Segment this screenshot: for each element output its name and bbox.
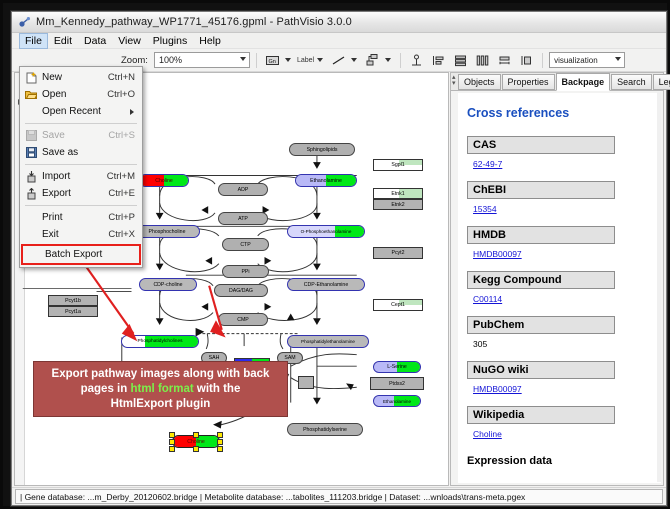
node-label: Etnk1 <box>391 191 404 197</box>
toolbar-separator-3 <box>542 53 543 68</box>
menu-item-open[interactable]: Open Ctrl+O <box>20 86 142 103</box>
node-label: Pcyt2 <box>392 250 405 256</box>
node-label: L-Serine <box>387 364 407 370</box>
xref-value-kegg[interactable]: C00114 <box>473 294 502 304</box>
node-choline-top[interactable]: Choline <box>139 174 189 187</box>
zoom-value: 100% <box>159 55 182 65</box>
pathvisio-app-icon <box>18 16 31 29</box>
line-tool-icon[interactable] <box>329 51 348 70</box>
xref-header-nugo: NuGO wiki <box>467 361 615 379</box>
menu-edit[interactable]: Edit <box>48 34 78 48</box>
menu-item-batch-export[interactable]: Batch Export <box>23 246 139 263</box>
node-label: Pcyt1a <box>65 309 81 315</box>
gene-product-dropdown-icon[interactable] <box>285 58 291 62</box>
node-label: ADP <box>238 187 249 193</box>
chevron-down-icon <box>240 57 246 61</box>
export-icon <box>20 188 42 200</box>
tab-legend[interactable]: Legend <box>653 74 670 90</box>
node-label: Choline <box>155 178 173 184</box>
align-center-tool-icon[interactable] <box>407 51 426 70</box>
node-label: DAG/DAG <box>229 288 253 294</box>
menu-separator-2 <box>25 164 137 165</box>
tab-scroll-icon[interactable]: ▴▾ <box>452 75 456 87</box>
outer-shell: Mm_Kennedy_pathway_WP1771_45176.gpml - P… <box>3 3 667 506</box>
menu-separator-3 <box>25 205 137 206</box>
node-label: O-Phosphoethanolamine <box>301 229 352 234</box>
node-cept1[interactable]: Cept1 <box>373 299 423 311</box>
menu-item-accel: Ctrl+X <box>108 229 135 240</box>
node-pcyt2[interactable]: Pcyt2 <box>373 247 423 259</box>
menu-item-label: Save as <box>42 147 135 158</box>
align-left-tool-icon[interactable] <box>429 51 448 70</box>
chevron-down-icon-2 <box>615 57 621 61</box>
zoom-combo[interactable]: 100% <box>154 52 250 68</box>
callout-line2-post: with the <box>194 383 241 395</box>
sidebar-scrollbar[interactable] <box>657 92 661 482</box>
node-cdp-ethanolamine[interactable]: CDP-Ethanolamine <box>287 278 365 291</box>
line-dropdown-icon[interactable] <box>351 58 357 62</box>
node-phosphocholine[interactable]: Phosphocholine <box>134 225 200 238</box>
interaction-tool-icon[interactable] <box>363 51 382 70</box>
backpage-content: Cross references CAS 62-49-7 ChEBI 15354… <box>458 93 661 483</box>
screenshot-root: Mm_Kennedy_pathway_WP1771_45176.gpml - P… <box>0 0 670 509</box>
menu-help[interactable]: Help <box>193 34 227 48</box>
node-cmp[interactable]: CMP <box>218 313 268 326</box>
node-phosphatidylethanolamine[interactable]: Phosphatidylethanolamine <box>287 335 369 348</box>
interaction-dropdown-icon[interactable] <box>385 58 391 62</box>
node-ethanolamine-top[interactable]: Ethanolamine <box>295 174 357 187</box>
node-pcyt1b[interactable]: Pcyt1b <box>48 295 98 306</box>
save-as-icon <box>20 147 42 158</box>
xref-value-nugo[interactable]: HMDB00097 <box>473 384 522 394</box>
node-label: Choline <box>187 439 205 445</box>
menu-separator-1 <box>25 123 137 124</box>
menu-bar[interactable]: File Edit Data View Plugins Help <box>12 33 666 49</box>
menu-data[interactable]: Data <box>78 34 112 48</box>
xref-value-wikipedia[interactable]: Choline <box>473 429 502 439</box>
node-label: Pcyt1b <box>65 298 81 304</box>
node-pcyt1a[interactable]: Pcyt1a <box>48 306 98 317</box>
menu-item-label: Open Recent <box>42 106 130 117</box>
sidebar-tabstrip[interactable]: ▴▾ Objects Properties Backpage Search Le… <box>451 73 663 91</box>
tab-properties[interactable]: Properties <box>502 74 555 90</box>
menu-item-new[interactable]: New Ctrl+N <box>20 69 142 86</box>
xref-value-hmdb[interactable]: HMDB00097 <box>473 249 522 259</box>
tab-backpage[interactable]: Backpage <box>556 73 611 91</box>
status-bar: | Gene database: ...m_Derby_20120602.bri… <box>12 487 666 505</box>
xref-value-pubchem: 305 <box>473 339 487 349</box>
node-atp[interactable]: ATP <box>218 212 268 225</box>
file-menu-popup[interactable]: New Ctrl+N Open Ctrl+O Open Recent <box>19 66 143 268</box>
batch-export-highlight: Batch Export <box>21 244 141 265</box>
tab-objects[interactable]: Objects <box>458 74 501 90</box>
node-label: ATP <box>238 216 248 222</box>
node-dag[interactable]: DAG/DAG <box>214 284 268 297</box>
visualization-combo[interactable]: visualization <box>549 52 625 68</box>
new-file-icon <box>20 72 42 84</box>
node-phosphatidylserine[interactable]: Phosphatidylserine <box>287 423 363 436</box>
node-label: Phosphatidylcholines <box>137 339 182 344</box>
node-label: Sgpl1 <box>391 162 404 168</box>
callout-line3: HtmlExport plugin <box>111 398 211 410</box>
menu-item-label: Export <box>42 188 108 199</box>
node-label: CDP-choline <box>153 282 182 288</box>
menu-item-accel: Ctrl+O <box>107 89 135 100</box>
menu-item-label: Exit <box>42 229 108 240</box>
menu-item-label: Save <box>42 130 108 141</box>
menu-item-label: New <box>42 72 108 83</box>
menu-item-label: Import <box>42 171 107 182</box>
node-adp[interactable]: ADP <box>218 183 268 196</box>
node-ptdss2[interactable]: Ptdss2 <box>370 377 424 390</box>
node-label: CTP <box>240 242 250 248</box>
node-pemt-anchor[interactable] <box>298 376 314 389</box>
node-sgpl1[interactable]: Sgpl1 <box>373 159 423 171</box>
menu-file[interactable]: File <box>19 33 48 49</box>
gene-product-tool-icon[interactable]: Gn <box>263 51 282 70</box>
xref-header-cas: CAS <box>467 136 615 154</box>
submenu-arrow-icon <box>130 109 134 115</box>
xref-header-chebi: ChEBI <box>467 181 615 199</box>
menu-item-accel: Ctrl+M <box>107 171 135 182</box>
toolbar-separator <box>256 53 257 68</box>
common-width-tool-icon[interactable] <box>495 51 514 70</box>
callout-line1: Export pathway images along with back <box>52 368 270 380</box>
node-ppi[interactable]: PPi <box>222 265 269 278</box>
node-label: Phosphatidylserine <box>303 427 347 433</box>
node-label: Ethanolamine <box>310 178 342 184</box>
xref-header-wikipedia: Wikipedia <box>467 406 615 424</box>
node-label: Sphingolipids <box>307 147 338 153</box>
import-icon <box>20 171 42 183</box>
node-l-serine[interactable]: L-Serine <box>373 361 421 373</box>
menu-item-print[interactable]: Print Ctrl+P <box>20 209 142 226</box>
node-label: Cept1 <box>391 302 405 308</box>
menu-item-accel: Ctrl+P <box>108 212 135 223</box>
callout-line2-highlight: html format <box>130 383 193 395</box>
node-ethanolamine-right[interactable]: Ethanolamine <box>373 395 421 407</box>
menu-plugins[interactable]: Plugins <box>147 34 193 48</box>
node-ctp[interactable]: CTP <box>222 238 269 251</box>
xref-value-chebi[interactable]: 15354 <box>473 204 497 214</box>
menu-item-label: Print <box>42 212 108 223</box>
distribute-tool-icon[interactable] <box>473 51 492 70</box>
svg-text:Gn: Gn <box>268 59 275 65</box>
callout-line2-pre: pages in <box>81 383 131 395</box>
zoom-label: Zoom: <box>121 55 148 66</box>
menu-item-accel: Ctrl+N <box>108 72 135 83</box>
menu-item-save: Save Ctrl+S <box>20 127 142 144</box>
open-folder-icon <box>20 89 42 100</box>
xref-header-pubchem: PubChem <box>467 316 615 334</box>
node-phosphatidylcholines[interactable]: Phosphatidylcholines <box>121 335 199 348</box>
node-label: CMP <box>237 317 249 323</box>
menu-item-label: Open <box>42 89 107 100</box>
menu-item-import[interactable]: Import Ctrl+M <box>20 168 142 185</box>
visualization-value: visualization <box>554 56 598 65</box>
save-disk-icon <box>20 130 42 141</box>
menu-item-export[interactable]: Export Ctrl+E <box>20 185 142 202</box>
xref-value-cas[interactable]: 62-49-7 <box>473 159 502 169</box>
title-bar: Mm_Kennedy_pathway_WP1771_45176.gpml - P… <box>12 12 666 33</box>
pathvisio-window: Mm_Kennedy_pathway_WP1771_45176.gpml - P… <box>11 11 667 506</box>
annotation-callout: Export pathway images along with back pa… <box>33 361 288 417</box>
node-etnk2[interactable]: Etnk2 <box>373 199 423 210</box>
status-text: | Gene database: ...m_Derby_20120602.bri… <box>15 489 663 504</box>
node-o-phosphoethanolamine[interactable]: O-Phosphoethanolamine <box>287 225 365 238</box>
node-label: Phosphatidylethanolamine <box>301 339 355 344</box>
menu-item-label: Batch Export <box>45 249 139 260</box>
node-etnk1[interactable]: Etnk1 <box>373 188 423 199</box>
align-stack-tool-icon[interactable] <box>451 51 470 70</box>
toolbar-separator-2 <box>400 53 401 68</box>
menu-item-accel: Ctrl+E <box>108 188 135 199</box>
node-label: Ethanolamine <box>383 399 411 404</box>
menu-item-save-as[interactable]: Save as <box>20 144 142 161</box>
sidebar-panel: ▴▾ Objects Properties Backpage Search Le… <box>450 72 664 486</box>
node-label: Etnk2 <box>391 202 404 208</box>
common-height-tool-icon[interactable] <box>517 51 536 70</box>
menu-item-open-recent[interactable]: Open Recent <box>20 103 142 120</box>
node-label: PPi <box>241 269 249 275</box>
label-dropdown-icon[interactable] <box>317 58 323 62</box>
node-cdp-choline[interactable]: CDP-choline <box>139 278 197 291</box>
node-label: Ptdss2 <box>389 381 405 387</box>
xref-header-kegg: Kegg Compound <box>467 271 615 289</box>
menu-item-accel: Ctrl+S <box>108 130 135 141</box>
window-title: Mm_Kennedy_pathway_WP1771_45176.gpml - P… <box>36 16 352 28</box>
expression-data-heading: Expression data <box>467 455 652 467</box>
node-sphingolipids[interactable]: Sphingolipids <box>289 143 355 156</box>
node-label: CDP-Ethanolamine <box>304 282 348 288</box>
backpage-title: Cross references <box>467 106 652 120</box>
xref-header-hmdb: HMDB <box>467 226 615 244</box>
menu-view[interactable]: View <box>112 34 147 48</box>
node-label: Phosphocholine <box>149 229 186 235</box>
label-tool-text[interactable]: Label <box>297 57 314 64</box>
menu-item-exit[interactable]: Exit Ctrl+X <box>20 226 142 243</box>
tab-search[interactable]: Search <box>611 74 652 90</box>
